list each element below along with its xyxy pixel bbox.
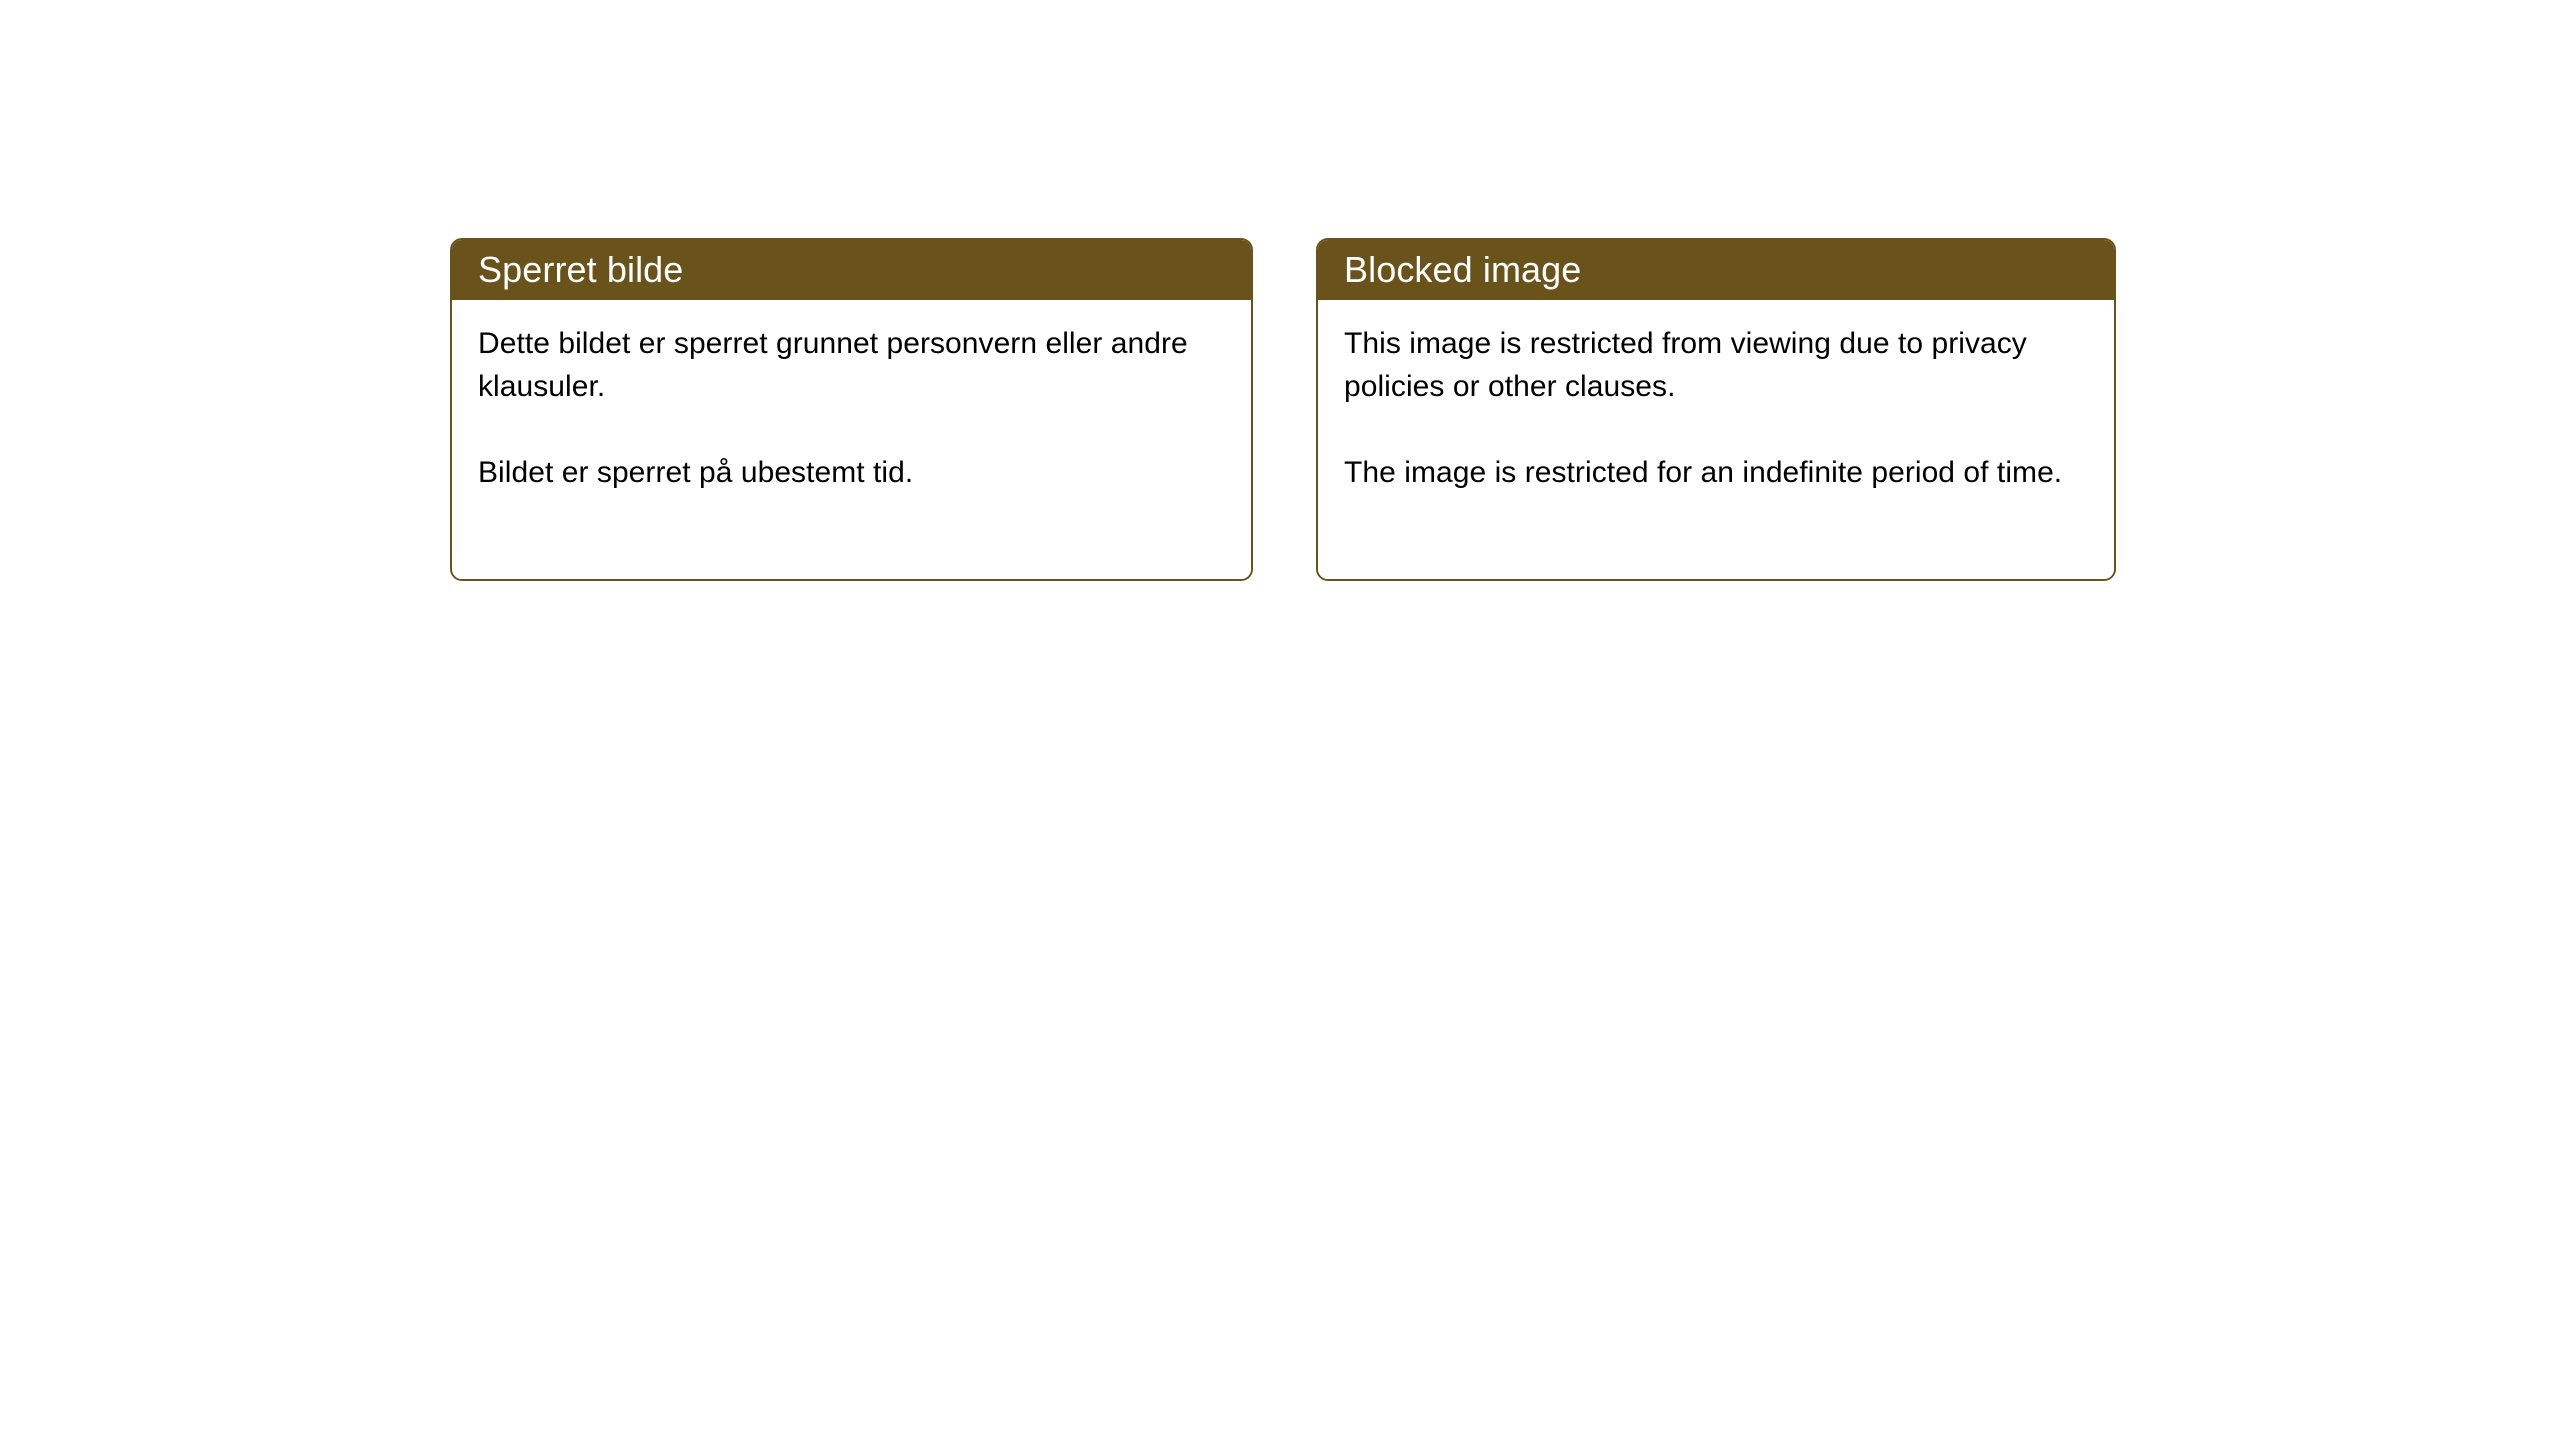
notice-card-norwegian: Sperret bilde Dette bildet er sperret gr… [450,238,1253,581]
paragraph-spacer [478,408,1225,451]
page-root: Sperret bilde Dette bildet er sperret gr… [0,0,2560,1440]
notice-card-header-english: Blocked image [1318,240,2114,300]
notice-paragraph-secondary-norwegian: Bildet er sperret på ubestemt tid. [478,451,1225,494]
paragraph-spacer [1344,408,2088,451]
notice-card-title-norwegian: Sperret bilde [478,252,683,288]
notice-paragraph-primary-norwegian: Dette bildet er sperret grunnet personve… [478,322,1225,408]
notice-card-body-norwegian: Dette bildet er sperret grunnet personve… [452,300,1251,579]
notice-card-header-norwegian: Sperret bilde [452,240,1251,300]
notice-paragraph-primary-english: This image is restricted from viewing du… [1344,322,2088,408]
notice-card-row: Sperret bilde Dette bildet er sperret gr… [450,238,2116,581]
notice-card-english: Blocked image This image is restricted f… [1316,238,2116,581]
notice-card-body-english: This image is restricted from viewing du… [1318,300,2114,579]
notice-paragraph-secondary-english: The image is restricted for an indefinit… [1344,451,2088,494]
notice-card-title-english: Blocked image [1344,252,1581,288]
